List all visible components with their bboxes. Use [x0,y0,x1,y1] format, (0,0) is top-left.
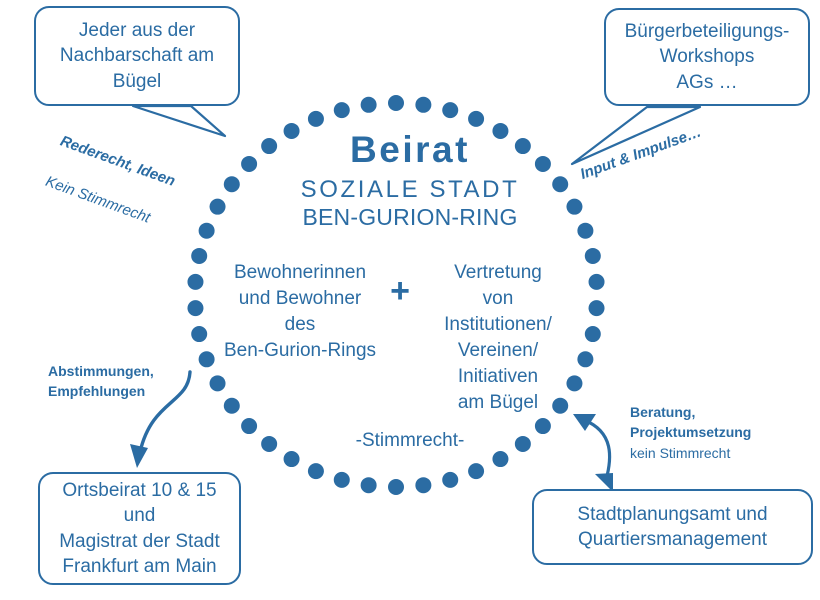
ring-dot [415,97,431,113]
ring-dot [187,300,203,316]
ring-dot [415,477,431,493]
ring-dot [442,472,458,488]
callout-ortsbeirat[interactable]: Ortsbeirat 10 & 15 und Magistrat der Sta… [38,472,241,585]
callout-neighbourhood-text: Jeder aus der Nachbarschaft am Bügel [60,18,214,94]
ring-dot [187,274,203,290]
ring-dot [468,111,484,127]
callout-stadtplanung-text: Stadtplanungsamt und Quartiersmanagement [577,502,767,553]
label-beratung-bold: Beratung, Projektumsetzung [630,402,805,443]
members-column-institutions: Vertretung von Institutionen/ Vereinen/ … [408,260,588,416]
ring-dot [589,274,605,290]
label-rederecht-bold: Rederecht, Ideen [58,132,177,189]
ring-dot [284,451,300,467]
ring-dot [468,463,484,479]
ring-dot [334,102,350,118]
members-column-residents: Bewohnerinnen und Bewohner des Ben-Gurio… [205,260,395,364]
ring-dot [334,472,350,488]
ring-dot [308,111,324,127]
label-beratung-light: kein Stimmrecht [630,443,805,463]
callout-stadtplanung[interactable]: Stadtplanungsamt und Quartiersmanagement [532,489,813,565]
ring-dot [361,97,377,113]
label-beratung: Beratung, Projektumsetzung kein Stimmrec… [630,402,805,463]
ring-dot [361,477,377,493]
callout-workshops[interactable]: Bürgerbeteiligungs- Workshops AGs … [604,8,810,106]
callout-neighbourhood[interactable]: Jeder aus der Nachbarschaft am Bügel [34,6,240,106]
ring-dot [442,102,458,118]
ring-dot [388,95,404,111]
ring-dot [210,375,226,391]
ring-dot [308,463,324,479]
ring-dot [224,398,240,414]
ring-dot [492,451,508,467]
ring-dot [589,300,605,316]
label-abstimmungen: Abstimmungen, Empfehlungen [48,361,208,402]
diagram-canvas: Jeder aus der Nachbarschaft am Bügel Bür… [0,0,820,600]
callout-ortsbeirat-text: Ortsbeirat 10 & 15 und Magistrat der Sta… [59,478,220,580]
ring-dot [388,479,404,495]
callout-workshops-text: Bürgerbeteiligungs- Workshops AGs … [625,19,790,95]
